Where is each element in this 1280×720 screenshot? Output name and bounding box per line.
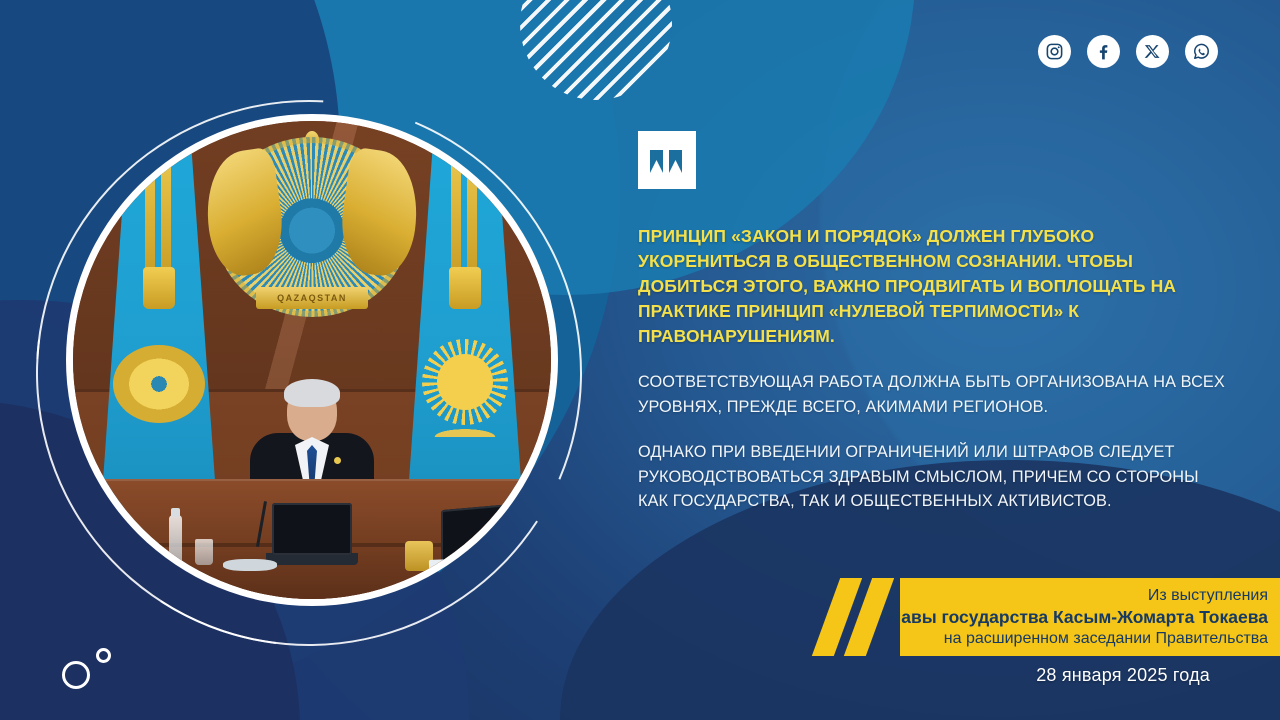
- attribution-banner: Из выступления Главы государства Касым-Ж…: [822, 578, 1280, 656]
- flag-ornament-left: [113, 345, 205, 423]
- speaker-lapel-pin: [334, 457, 341, 464]
- state-emblem-icon: QAZAQSTAN: [215, 137, 409, 317]
- photo-circle-frame: QAZAQSTAN: [66, 114, 558, 606]
- quote-open-icon: [638, 131, 696, 189]
- flag-tassel-left: [143, 267, 175, 309]
- desk-monitor: [441, 504, 513, 562]
- attribution-text: Из выступления Главы государства Касым-Ж…: [822, 578, 1272, 656]
- flag-cord-left-1: [145, 163, 155, 283]
- flag-sun: [437, 354, 493, 410]
- attribution-line-3: на расширенном заседании Правительства: [944, 628, 1268, 649]
- desk-papers: [429, 558, 481, 570]
- speaker-photo: QAZAQSTAN: [73, 121, 551, 599]
- laptop-screen: [272, 503, 352, 555]
- water-bottle: [169, 515, 182, 563]
- speech-date: 28 января 2025 года: [1036, 665, 1210, 686]
- quote-card: QAZAQSTAN: [0, 0, 1280, 720]
- decor-ring-small: [96, 648, 111, 663]
- water-bottle-cap: [171, 508, 180, 517]
- drinking-glass: [195, 539, 213, 565]
- flag-cord-right-1: [451, 163, 461, 283]
- emblem-caption: QAZAQSTAN: [256, 287, 368, 309]
- quote-paragraph-2: ОДНАКО ПРИ ВВЕДЕНИИ ОГРАНИЧЕНИЙ ИЛИ ШТРА…: [638, 440, 1228, 514]
- attribution-line-2: Главы государства Касым-Жомарта Токаева: [881, 606, 1268, 628]
- quote-lead-paragraph: ПРИНЦИП «ЗАКОН И ПОРЯДОК» ДОЛЖЕН ГЛУБОКО…: [638, 224, 1228, 349]
- flag-eagle: [415, 407, 515, 437]
- quote-paragraph-1: СООТВЕТСТВУЮЩАЯ РАБОТА ДОЛЖНА БЫТЬ ОРГАН…: [638, 370, 1228, 419]
- attribution-line-1: Из выступления: [1148, 586, 1268, 606]
- decor-ring-large: [62, 661, 90, 689]
- desk-tray: [223, 559, 277, 571]
- flag-tassel-right: [449, 267, 481, 309]
- speaker-hair: [284, 379, 340, 407]
- quote-text-block: ПРИНЦИП «ЗАКОН И ПОРЯДОК» ДОЛЖЕН ГЛУБОКО…: [638, 224, 1228, 514]
- flag-cord-left-2: [161, 163, 171, 283]
- flag-cord-right-2: [467, 163, 477, 283]
